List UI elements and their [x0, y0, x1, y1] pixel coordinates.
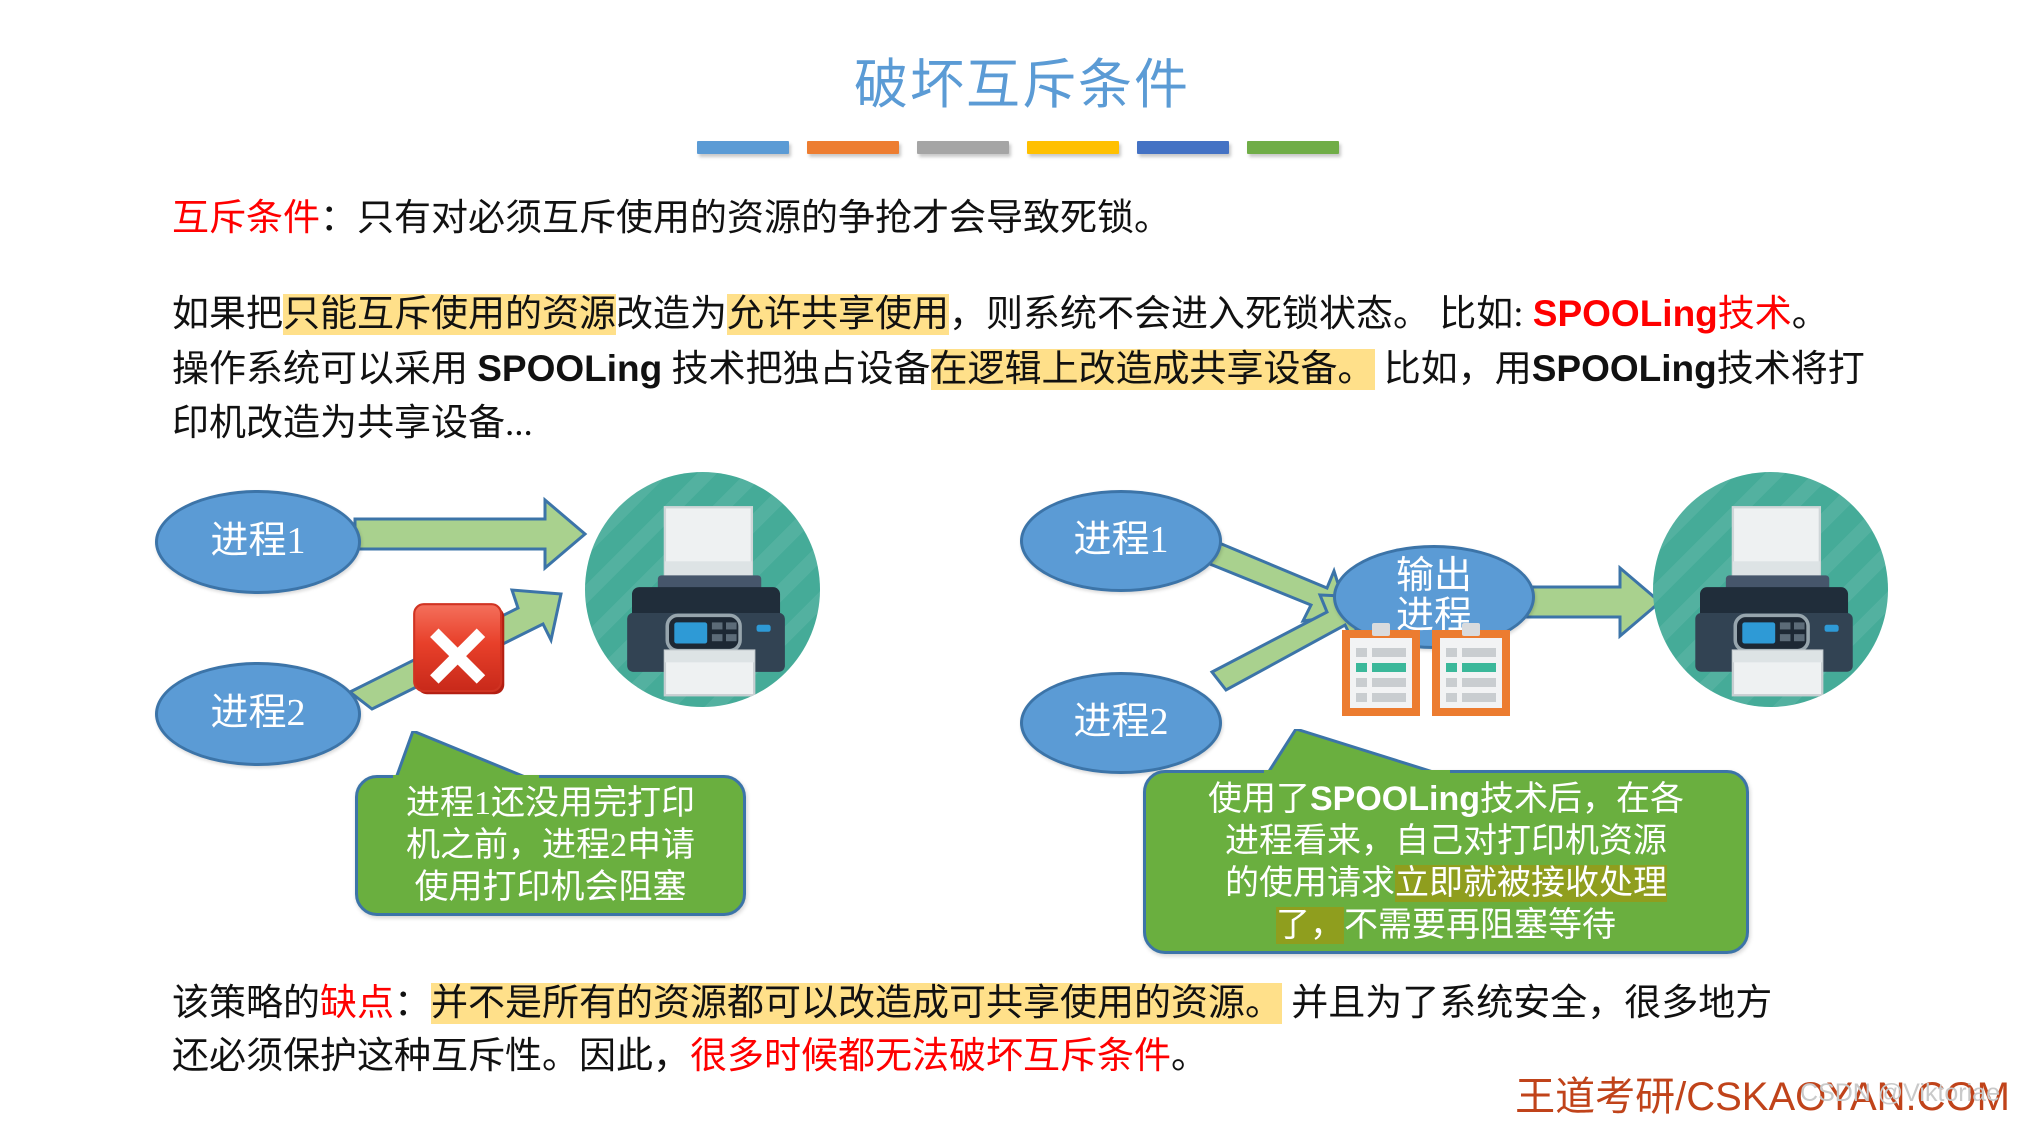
callout-left-text: 进程1还没用完打印机之前，进程2申请使用打印机会阻塞 [406, 783, 695, 909]
process2-node-right[interactable]: 进程2 [1020, 672, 1222, 774]
accent-bar-yellow [1027, 141, 1119, 154]
paragraph-mutex-definition: 互斥条件：只有对必须互斥使用的资源的争抢才会导致死锁。 [172, 190, 1171, 248]
paragraph-spooling-detail: 操作系统可以采用 SPOOLing 技术把独占设备在逻辑上改造成共享设备。 比如… [172, 340, 1865, 399]
process2-label-left: 进程2 [210, 694, 305, 734]
accent-bar-orange [807, 141, 899, 154]
process1-label-left: 进程1 [210, 522, 305, 562]
arrow-p1-to-printer [355, 500, 585, 568]
clipboard-icon-1 [1340, 622, 1422, 718]
process2-node-left[interactable]: 进程2 [155, 662, 361, 766]
paragraph-drawback: 该策略的缺点：并不是所有的资源都可以改造成可共享使用的资源。 并且为了系统安全，… [172, 975, 1772, 1033]
callout-left: 进程1还没用完打印机之前，进程2申请使用打印机会阻塞 [355, 775, 746, 916]
paragraph-spooling-intro: 如果把只能互斥使用的资源改造为允许共享使用，则系统不会进入死锁状态。 比如: S… [172, 285, 1829, 344]
accent-bar-green [1247, 141, 1339, 154]
callout-right-text: 使用了SPOOLing技术后，在各进程看来，自己对打印机资源的使用请求立即就被接… [1194, 778, 1698, 947]
printer-icon-right [1653, 472, 1888, 707]
callout-left-tail [355, 731, 740, 781]
process1-node-left[interactable]: 进程1 [155, 490, 361, 594]
printer-icon-left [585, 472, 820, 707]
accent-bar-blue [697, 141, 789, 154]
arrow-rp1-to-spool [1200, 540, 1348, 621]
slide-root: 破坏互斥条件 互斥条件：只有对必须互斥使用的资源的争抢才会导致死锁。 如果把只能… [0, 0, 2044, 1138]
clipboard-icon-2 [1430, 622, 1512, 718]
process1-node-right[interactable]: 进程1 [1020, 490, 1222, 592]
paragraph-spooling-detail-cont: 印机改造为共享设备... [172, 395, 533, 453]
page-title: 破坏互斥条件 [0, 40, 2044, 119]
accent-bar-row [697, 141, 1347, 155]
paragraph-drawback-cont: 还必须保护这种互斥性。因此，很多时候都无法破坏互斥条件。 [172, 1028, 1208, 1086]
watermark: CSDN @Viktoriae [1800, 1079, 2000, 1108]
process1-label-right: 进程1 [1073, 521, 1168, 561]
callout-right: 使用了SPOOLing技术后，在各进程看来，自己对打印机资源的使用请求立即就被接… [1143, 770, 1749, 954]
callout-right-tail [1236, 729, 1536, 776]
accent-bar-darkblue [1137, 141, 1229, 154]
accent-bar-gray [917, 141, 1009, 154]
red-x-icon [411, 601, 517, 707]
process2-label-right: 进程2 [1073, 703, 1168, 743]
